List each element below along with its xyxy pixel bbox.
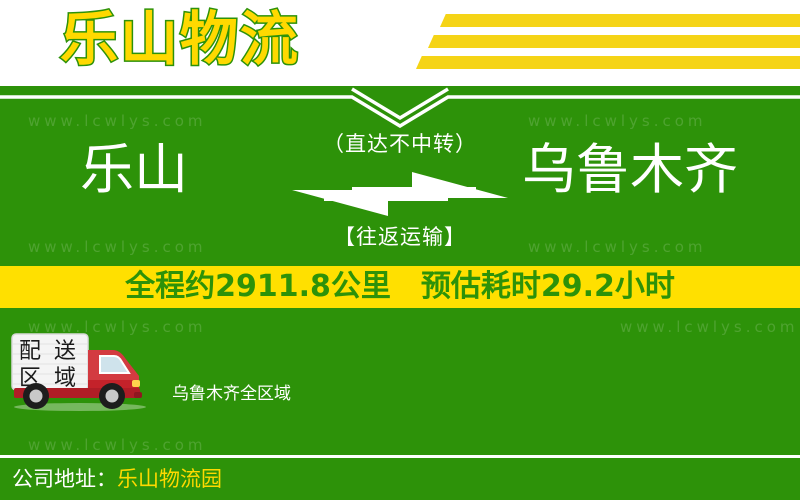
delivery-truck-icon: 配 送 区 域 <box>8 328 158 413</box>
delivery-section: 配 送 区 域 乌鲁木齐全区域 <box>0 320 800 420</box>
poster-header: 乐山物流 <box>0 0 800 86</box>
route-center-block: （直达不中转） 【往返运输】 <box>275 128 525 266</box>
address-label: 公司地址： <box>12 467 117 491</box>
company-address: 公司地址：乐山物流园 <box>12 464 222 494</box>
stripe-1 <box>440 14 800 27</box>
double-arrow-icon <box>280 168 520 220</box>
svg-text:配: 配 <box>19 339 41 364</box>
delivery-coverage-label: 乌鲁木齐全区域 <box>172 382 291 406</box>
decorative-stripes <box>420 14 800 76</box>
bottom-divider <box>0 455 800 458</box>
company-logo-title: 乐山物流 <box>60 2 300 76</box>
stripe-2 <box>428 35 800 48</box>
svg-text:域: 域 <box>54 366 76 391</box>
destination-city: 乌鲁木齐 <box>522 134 738 206</box>
trip-info-band: 全程约2911.8公里 预估耗时29.2小时 <box>0 266 800 308</box>
tagline-direct: （直达不中转） <box>275 130 525 158</box>
origin-city: 乐山 <box>80 134 188 206</box>
chevron-divider-icon <box>0 86 800 128</box>
trip-info-text: 全程约2911.8公里 预估耗时29.2小时 <box>125 266 675 308</box>
address-value: 乐山物流园 <box>117 467 222 491</box>
logistics-poster: 乐山物流 乐山 （直达不中转） <box>0 0 800 500</box>
stripe-3 <box>416 56 800 69</box>
watermark: www.lcwlys.com <box>28 436 207 454</box>
tagline-roundtrip: 【往返运输】 <box>275 223 525 251</box>
svg-text:送: 送 <box>54 339 76 364</box>
route-section: 乐山 （直达不中转） 【往返运输】 乌鲁木齐 <box>0 128 800 266</box>
